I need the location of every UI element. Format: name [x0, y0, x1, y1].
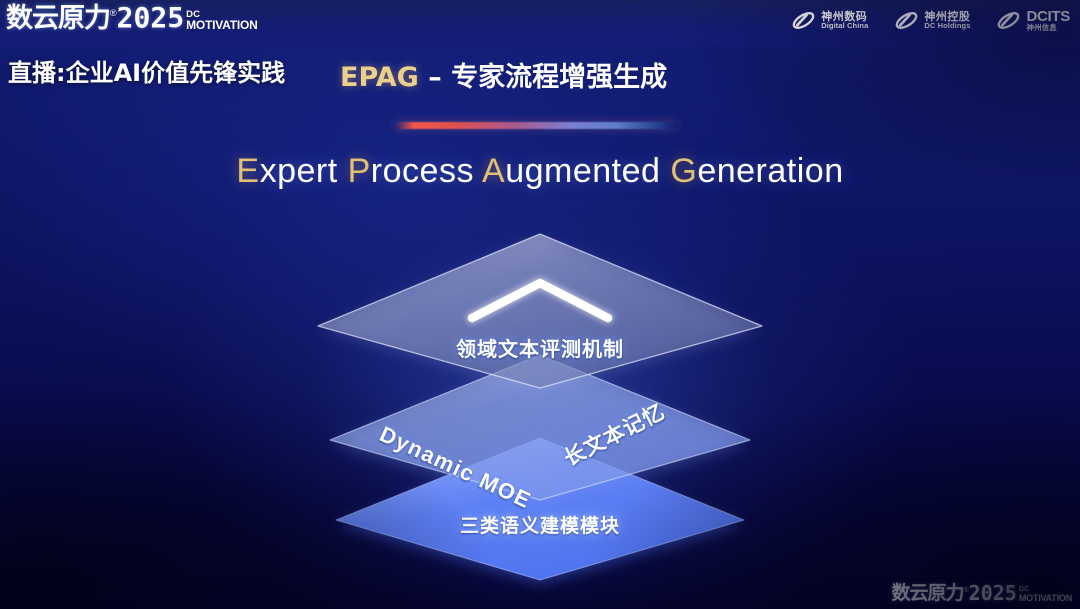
logo-dc-holdings: 神州控股 DC Holdings [894, 8, 970, 33]
subtitle-part: ugmented [505, 152, 670, 190]
subtitle-part: rocess [371, 152, 482, 190]
logo-name-cn: 神州信息 [1026, 24, 1070, 32]
brand-registered-mark: ® [110, 9, 117, 18]
layer-middle-diamond[interactable] [330, 355, 750, 500]
brand-year: 2025 [117, 4, 184, 32]
footer-brand-dc-motivation: DC MOTIVATION [1019, 587, 1072, 602]
partner-logo-group: 神州数码 Digital China 神州控股 DC Holdings [791, 8, 1070, 33]
live-session-title: 直播:企业AI价值先锋实践 [8, 53, 285, 88]
footer-brand-year: 2025 [969, 583, 1017, 603]
subtitle-part: E [236, 152, 259, 190]
logo-text: DCITS 神州信息 [1026, 9, 1070, 33]
subtitle-part: G [670, 152, 697, 190]
subtitle-part: A [482, 152, 505, 190]
subtitle-part: P [348, 152, 371, 190]
logo-dcits: DCITS 神州信息 [996, 8, 1070, 33]
layer-bottom-diamond[interactable] [336, 438, 744, 580]
brand-logo-footer: 数云原力 ® 2025 DC MOTIVATION [891, 583, 1072, 603]
layer-top-diamond[interactable] [318, 234, 762, 388]
layer-top-label: 领域文本评测机制 [0, 333, 1080, 362]
layer-middle-label-left: Dynamic MOE [376, 421, 536, 514]
layer-top-glow [320, 239, 760, 392]
layer-middle-label-right: 长文本记忆 [558, 396, 670, 473]
footer-brand-motivation-line: MOTIVATION [1019, 594, 1072, 602]
logo-name-en: Digital China [821, 22, 868, 30]
swirl-icon [996, 8, 1021, 33]
brand-name-cn: 数云原力 [6, 5, 110, 32]
logo-digital-china: 神州数码 Digital China [791, 8, 868, 33]
subtitle-part: xpert [260, 152, 348, 190]
subtitle-expansion: Expert Process Augmented Generation [0, 152, 1080, 191]
logo-text: 神州控股 DC Holdings [924, 11, 970, 30]
slide-canvas: 数云原力 ® 2025 DC MOTIVATION 神州数码 Digital C… [0, 0, 1080, 609]
brand-motivation-line: MOTIVATION [186, 20, 258, 31]
brand-logo-top: 数云原力 ® 2025 DC MOTIVATION [6, 4, 258, 32]
page-title-chinese: – 专家流程增强生成 [419, 62, 667, 93]
page-title: EPAG – 专家流程增强生成 [340, 55, 667, 94]
footer-brand-name-cn: 数云原力 [891, 584, 963, 603]
layer-bottom-label: 三类语义建模模块 [0, 511, 1080, 538]
chevron-up-icon [472, 283, 608, 318]
swirl-icon [791, 8, 816, 33]
subtitle-part: eneration [697, 152, 843, 190]
gradient-divider [394, 122, 678, 129]
layer-middle-glow [332, 360, 748, 504]
swirl-icon [894, 8, 919, 33]
header-bar: 数云原力 ® 2025 DC MOTIVATION 神州数码 Digital C… [0, 0, 1080, 46]
layer-bottom-glow [338, 443, 742, 583]
chevron-up-icon-glow [472, 283, 608, 318]
logo-text: 神州数码 Digital China [821, 11, 868, 30]
brand-dc-motivation: DC MOTIVATION [186, 11, 258, 31]
logo-name-en: DC Holdings [924, 22, 970, 30]
page-title-acronym: EPAG [340, 62, 419, 93]
